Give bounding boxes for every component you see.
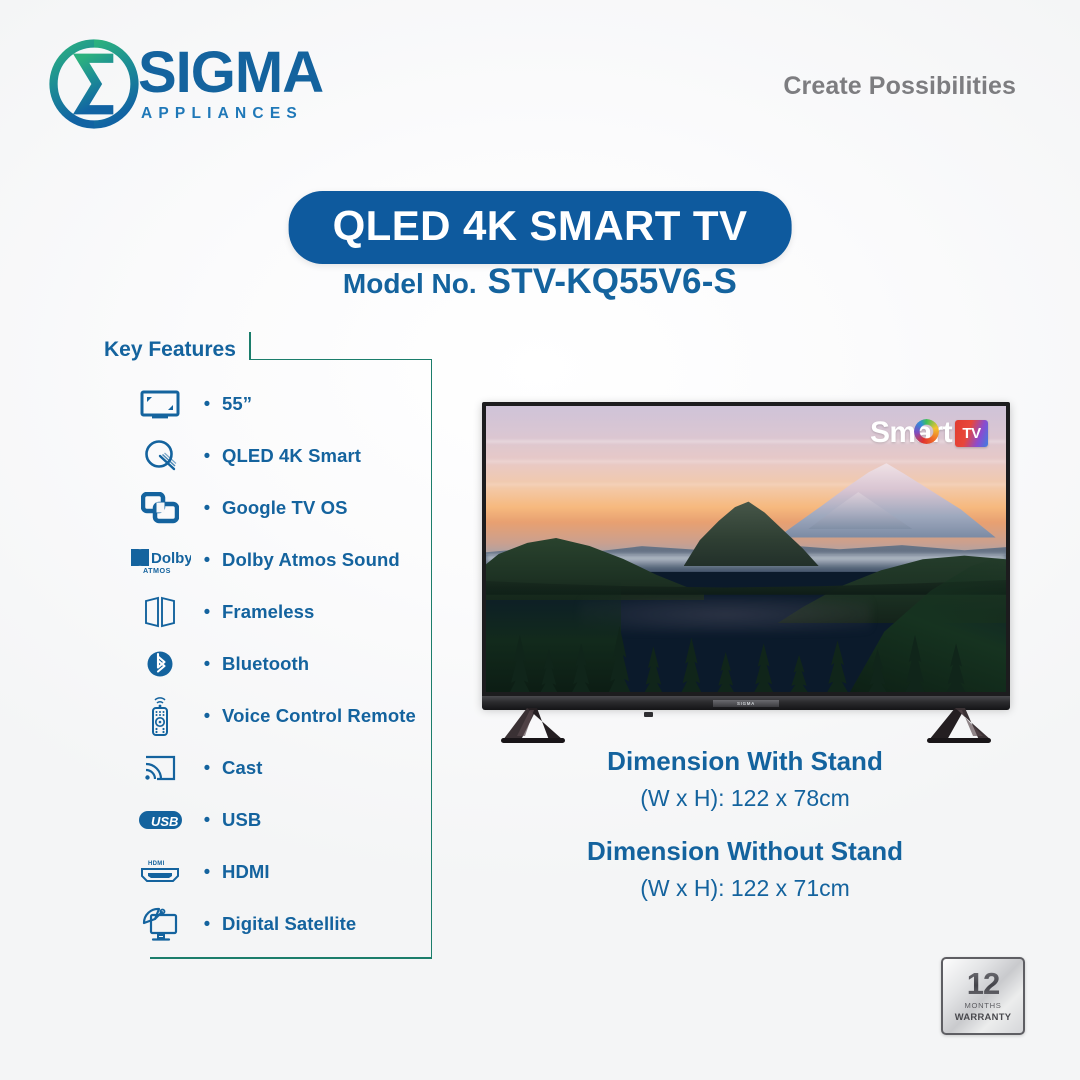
feature-item: • QLED 4K Smart [88, 430, 432, 482]
dolby-atmos-icon: Dolby ATMOS [128, 540, 192, 580]
sigma-circle-logo-icon [48, 38, 140, 130]
feature-bullet: • [192, 603, 222, 622]
feature-item: Dolby ATMOS • Dolby Atmos Sound [88, 534, 432, 586]
tv-bezel: Smart TV [482, 402, 1010, 708]
brand-logo: SIGMA APPLIANCES [48, 38, 323, 130]
tv-screen: Smart TV [486, 406, 1006, 692]
warranty-badge: 12 MONTHS WARRANTY [941, 957, 1025, 1035]
feature-item: USB • USB [88, 794, 432, 846]
hdmi-icon: HDMI [128, 852, 192, 892]
feature-bullet: • [192, 759, 222, 778]
usb-icon: USB [128, 800, 192, 840]
feature-bullet: • [192, 395, 222, 414]
panel-border-notch [249, 332, 251, 360]
feature-item: HDMI • HDMI [88, 846, 432, 898]
smart-tv-color-ring-icon [914, 419, 939, 444]
screen-forest-left [486, 578, 621, 692]
qled-q-icon [128, 436, 192, 476]
key-features-heading: Key Features [104, 338, 236, 362]
feature-label: Google TV OS [222, 497, 348, 519]
svg-text:HDMI: HDMI [148, 861, 165, 867]
feature-item: • Bluetooth [88, 638, 432, 690]
panel-border-bottom [150, 957, 432, 959]
smart-tv-chip: TV [955, 420, 988, 447]
dimensions-block: Dimension With Stand (W x H): 122 x 78cm… [455, 745, 1035, 904]
smart-tv-logo: Smart TV [870, 418, 988, 448]
feature-bullet: • [192, 655, 222, 674]
feature-label: Bluetooth [222, 653, 309, 675]
feature-bullet: • [192, 863, 222, 882]
panel-border-top [249, 359, 432, 361]
brand-tagline: Create Possibilities [783, 72, 1016, 101]
feature-item: • Google TV OS [88, 482, 432, 534]
model-line: Model No. STV-KQ55V6-S [343, 262, 737, 302]
feature-bullet: • [192, 551, 222, 570]
dimension-without-stand-title: Dimension Without Stand [455, 835, 1035, 868]
feature-item: • Frameless [88, 586, 432, 638]
product-spec-poster: SIGMA APPLIANCES Create Possibilities QL… [0, 0, 1080, 1080]
model-value: STV-KQ55V6-S [488, 262, 737, 302]
logo-subtitle: APPLIANCES [141, 105, 303, 123]
feature-label: Dolby Atmos Sound [222, 549, 400, 571]
warranty-number: 12 [967, 970, 999, 998]
tv-screen-icon [128, 384, 192, 424]
feature-label: Voice Control Remote [222, 705, 416, 727]
feature-list: • 55” • QLED 4K Smart [88, 378, 432, 950]
feature-label: HDMI [222, 861, 270, 883]
feature-label: Digital Satellite [222, 913, 356, 935]
warranty-word: WARRANTY [955, 1011, 1012, 1022]
logo-word: SIGMA [138, 45, 323, 100]
tv-ir-sensor [644, 712, 653, 717]
warranty-period: MONTHS [964, 1001, 1001, 1010]
model-label: Model No. [343, 268, 477, 300]
feature-label: 55” [222, 393, 252, 415]
feature-bullet: • [192, 915, 222, 934]
feature-bullet: • [192, 811, 222, 830]
svg-text:USB: USB [151, 814, 178, 829]
key-features-panel: Key Features • 55” [88, 332, 432, 958]
feature-item: • Digital Satellite [88, 898, 432, 950]
product-title-banner: QLED 4K SMART TV [289, 191, 792, 264]
smart-tv-wordmark: Smart [870, 418, 952, 448]
header: SIGMA APPLIANCES Create Possibilities [0, 0, 1080, 160]
feature-bullet: • [192, 447, 222, 466]
product-title: QLED 4K SMART TV [333, 205, 748, 247]
feature-label: Frameless [222, 601, 314, 623]
feature-item: • 55” [88, 378, 432, 430]
svg-text:Dolby: Dolby [151, 550, 191, 567]
google-tv-os-icon [128, 488, 192, 528]
satellite-dish-icon [128, 904, 192, 944]
remote-control-icon [128, 696, 192, 736]
logo-wordmark: SIGMA APPLIANCES [138, 45, 323, 122]
feature-item: • Cast [88, 742, 432, 794]
dimension-without-stand-value: (W x H): 122 x 71cm [455, 874, 1035, 904]
feature-item: • Voice Control Remote [88, 690, 432, 742]
feature-bullet: • [192, 499, 222, 518]
cast-icon [128, 748, 192, 788]
feature-bullet: • [192, 707, 222, 726]
tv-bezel-brand: SIGMA [713, 700, 779, 707]
svg-text:ATMOS: ATMOS [143, 566, 171, 575]
tv-stand-foot-left [497, 708, 569, 744]
feature-label: Cast [222, 757, 263, 779]
dimension-with-stand-value: (W x H): 122 x 78cm [455, 784, 1035, 814]
tv-product-image: Smart TV SIGMA [455, 390, 1035, 740]
feature-label: QLED 4K Smart [222, 445, 361, 467]
dimension-with-stand-title: Dimension With Stand [455, 745, 1035, 778]
tv-stand-foot-right [923, 708, 995, 744]
frameless-icon [128, 592, 192, 632]
bluetooth-icon [128, 644, 192, 684]
feature-label: USB [222, 809, 261, 831]
